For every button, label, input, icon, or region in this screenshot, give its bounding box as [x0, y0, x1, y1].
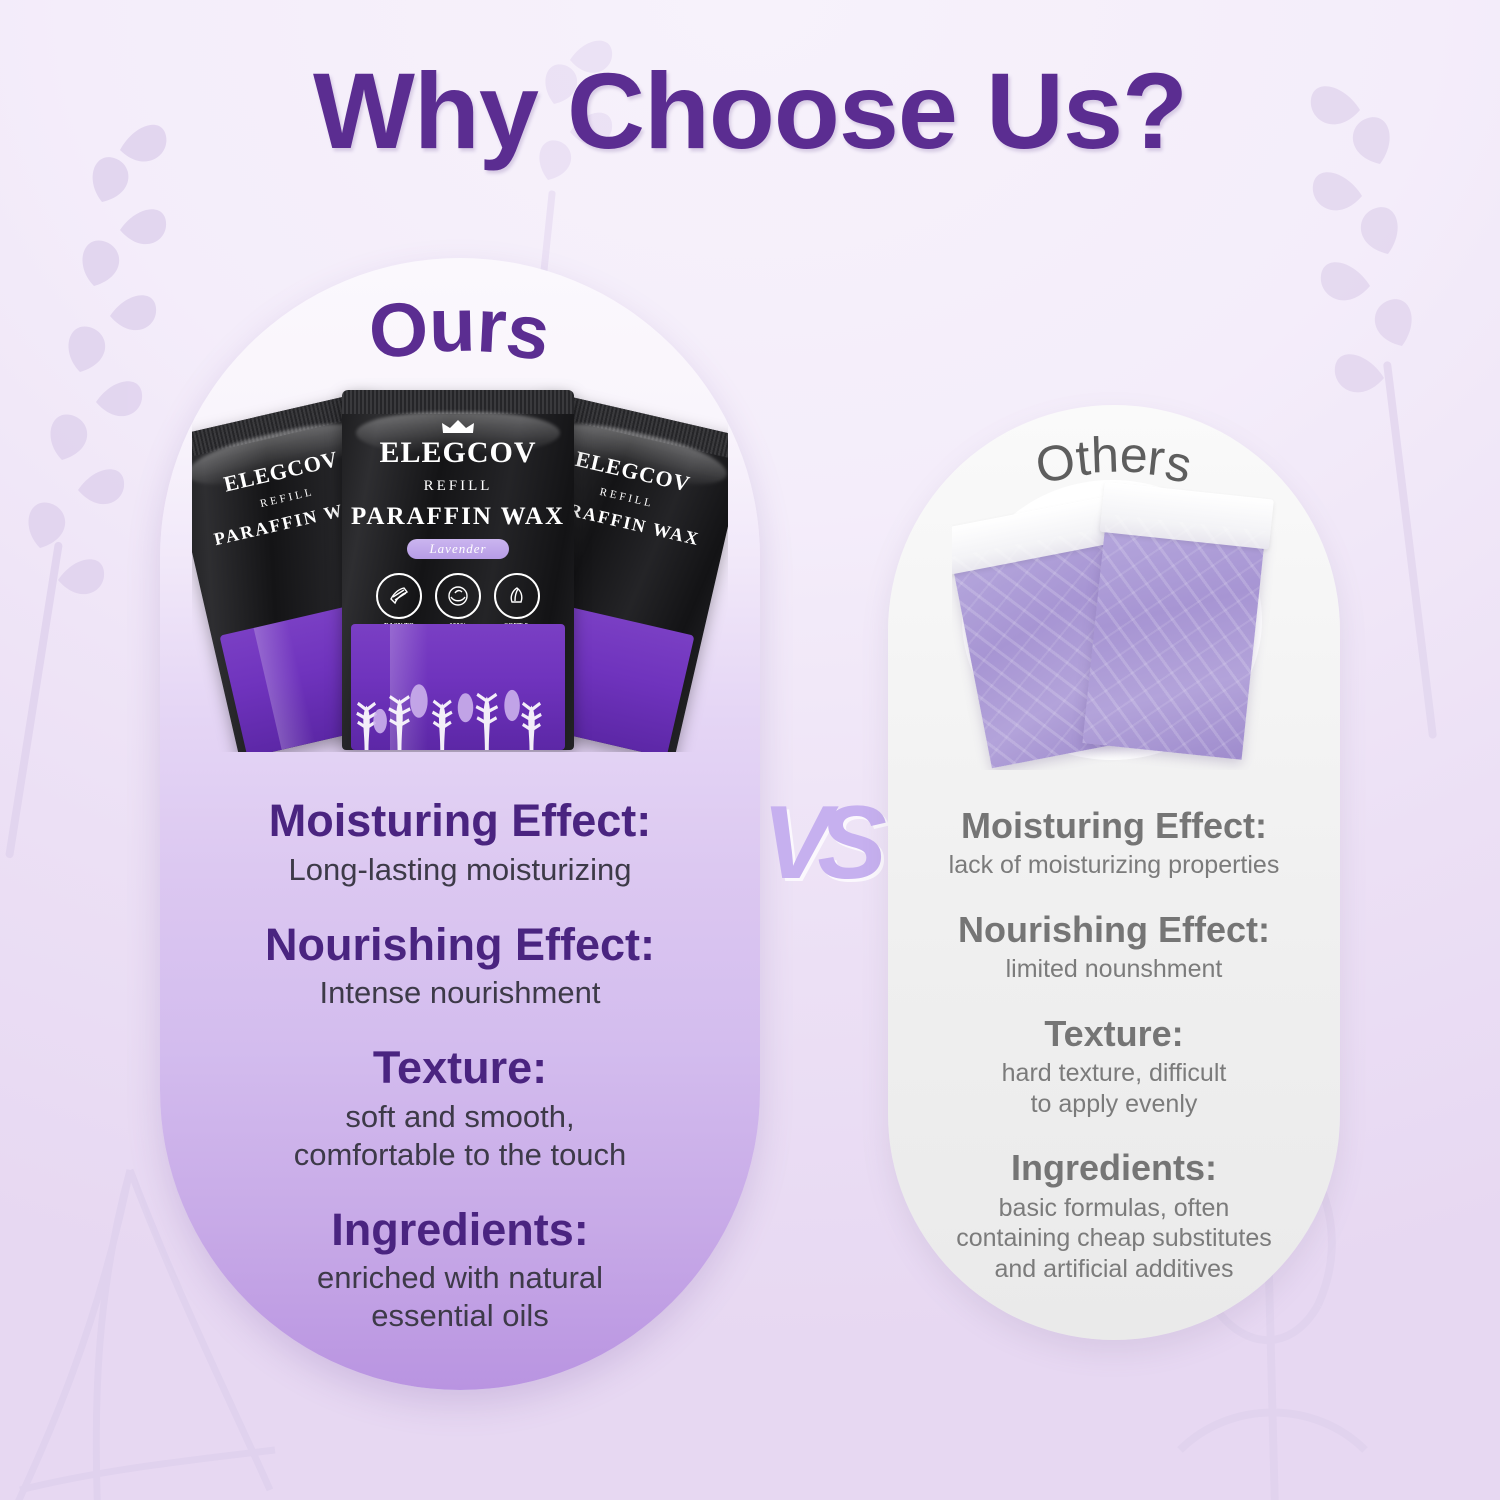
feature-heading: Nourishing Effect: [895, 909, 1333, 950]
others-feature-list: Moisturing Effect: lack of moisturizing … [895, 805, 1333, 1312]
feature-item: Ingredients: enriched with naturalessent… [170, 1204, 750, 1335]
product-pouch-center: ELEGCOV REFILL PARAFFIN WAX Lavender EAS… [342, 390, 574, 750]
pouch-seal [342, 390, 574, 414]
crown-icon [441, 420, 475, 434]
feature-description: Long-lasting moisturizing [170, 851, 750, 889]
feature-heading: Ingredients: [895, 1147, 1333, 1188]
wax-block-film [1082, 514, 1265, 759]
feature-item: Ingredients: basic formulas, oftencontai… [895, 1147, 1333, 1284]
others-product-photo [952, 470, 1282, 770]
feature-heading: Moisturing Effect: [170, 795, 750, 847]
feature-heading: Ingredients: [170, 1204, 750, 1256]
feature-description: enriched with naturalessential oils [170, 1259, 750, 1335]
feature-description: lack of moisturizing properties [895, 850, 1333, 881]
feature-description: limited nounshment [895, 954, 1333, 985]
feature-description: Intense nourishment [170, 974, 750, 1012]
pouch-product-name: PARAFFIN WAX [342, 503, 574, 531]
peeling-hands-icon [376, 573, 422, 619]
feature-item: Nourishing Effect: limited nounshment [895, 909, 1333, 985]
feature-description: basic formulas, oftencontaining cheap su… [895, 1193, 1333, 1285]
pouch-scent-badge: Lavender [407, 539, 508, 559]
feature-item: Texture: soft and smooth,comfortable to … [170, 1042, 750, 1173]
pouch-refill-label: REFILL [342, 478, 574, 495]
feature-description: soft and smooth,comfortable to the touch [170, 1098, 750, 1174]
feature-heading: Texture: [170, 1042, 750, 1094]
lavender-illustration-icon [351, 672, 564, 750]
ours-feature-list: Moisturing Effect: Long-lasting moisturi… [170, 795, 750, 1365]
feature-item: Texture: hard texture, difficultto apply… [895, 1013, 1333, 1119]
pouch-brand-name: ELEGCOV [342, 436, 574, 470]
soft-hands-icon [494, 573, 540, 619]
feature-heading: Nourishing Effect: [170, 919, 750, 971]
wax-block-right [1082, 514, 1265, 759]
feature-heading: Moisturing Effect: [895, 805, 1333, 846]
feature-description: hard texture, difficultto apply evenly [895, 1058, 1333, 1119]
feature-item: Moisturing Effect: lack of moisturizing … [895, 805, 1333, 881]
feature-item: Moisturing Effect: Long-lasting moisturi… [170, 795, 750, 889]
feature-item: Nourishing Effect: Intense nourishment [170, 919, 750, 1013]
page-title: Why Choose Us? [0, 48, 1500, 173]
natural-bowl-icon [435, 573, 481, 619]
wax-sheen [254, 620, 316, 750]
ours-product-photo: ELEGCOV REFILL PARAFFIN WAX ELEGCOV REFI… [192, 348, 728, 752]
infographic-canvas: Why Choose Us? Ours ELEGCOV REFILL PARAF… [0, 0, 1500, 1500]
feature-heading: Texture: [895, 1013, 1333, 1054]
pouch-wax-window [351, 624, 564, 750]
vs-badge: VS [762, 788, 882, 898]
